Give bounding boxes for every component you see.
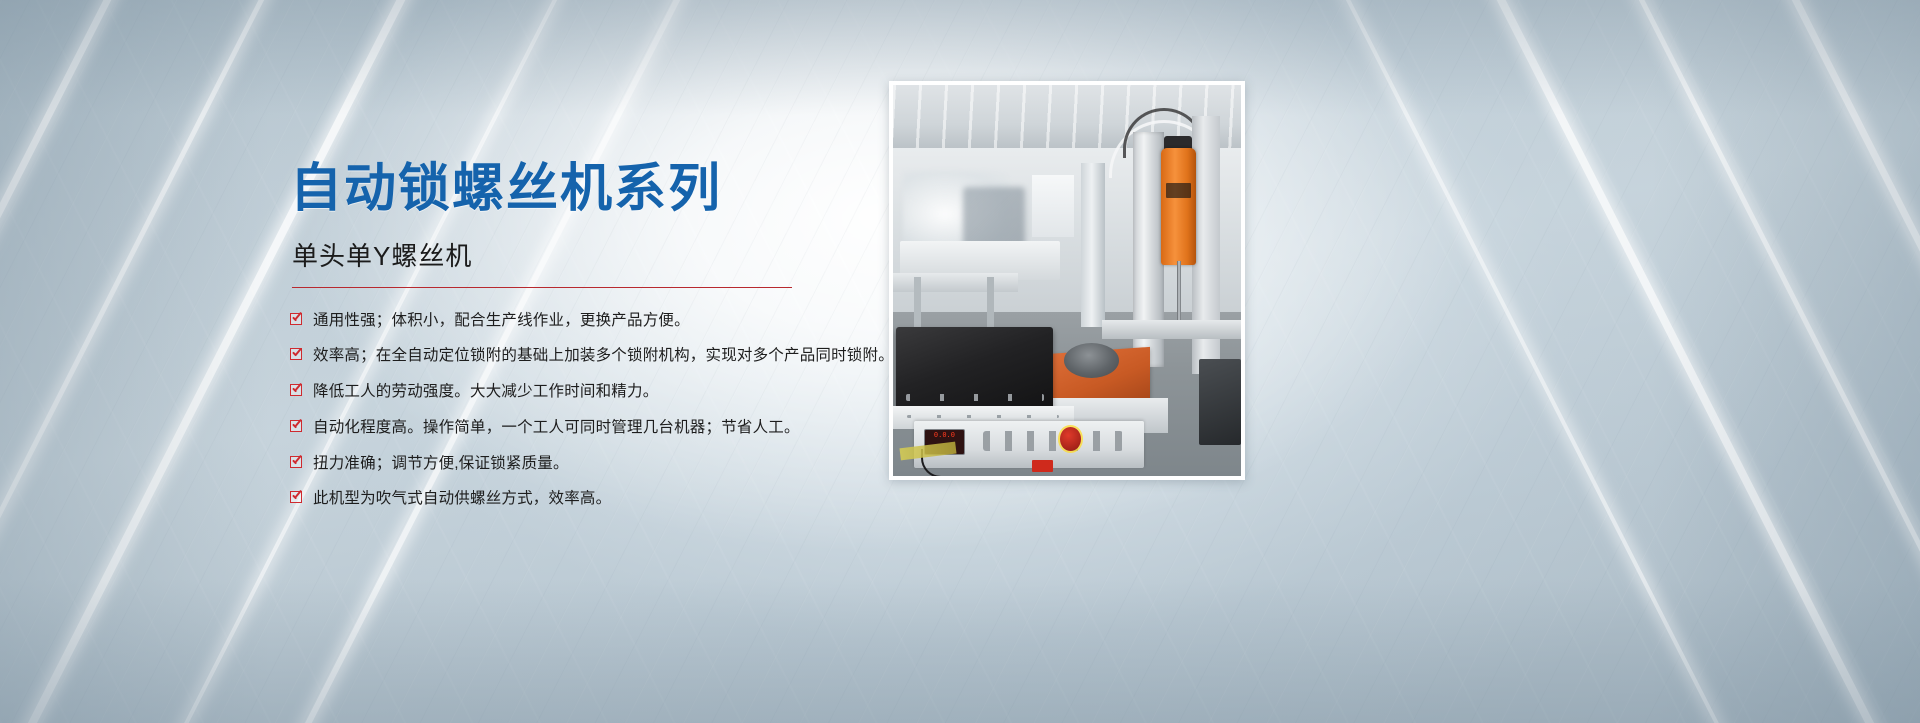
feature-text: 扭力准确；调节方便,保证锁紧质量。 (313, 453, 569, 475)
light-streak (1187, 0, 1920, 723)
photo-electric-screwdriver (1161, 148, 1196, 265)
check-box-icon (290, 491, 302, 503)
feature-text: 通用性强；体积小，配合生产线作业，更换产品方便。 (313, 310, 690, 332)
feature-list: 通用性强；体积小，配合生产线作业，更换产品方便。 效率高；在全自动定位锁附的基础… (290, 310, 970, 510)
check-box-icon (290, 456, 302, 468)
light-streak (0, 0, 269, 723)
photo-power-switch (1032, 460, 1053, 472)
light-streak (1633, 0, 1920, 723)
product-photo: 0.0.0 (893, 85, 1241, 476)
list-item: 降低工人的劳动强度。大大减少工作时间和精力。 (290, 381, 970, 403)
feature-text: 此机型为吹气式自动供螺丝方式，效率高。 (313, 488, 611, 510)
light-streak (1480, 0, 1920, 723)
photo-column (1081, 163, 1105, 327)
photo-workbench-secondary (893, 273, 1018, 293)
page-title: 自动锁螺丝机系列 (290, 160, 970, 220)
light-streak (0, 0, 129, 723)
light-streak (1791, 0, 1920, 723)
check-box-icon (290, 384, 302, 396)
list-item: 自动化程度高。操作简单，一个工人可同时管理几台机器；节省人工。 (290, 417, 970, 439)
light-streak (1339, 0, 1920, 723)
photo-bench-leg (987, 277, 994, 328)
feature-text: 效率高；在全自动定位锁附的基础上加装多个锁附机构，实现对多个产品同时锁附。 (313, 345, 894, 367)
feature-text: 降低工人的劳动强度。大大减少工作时间和精力。 (313, 381, 658, 403)
check-box-icon (290, 313, 302, 325)
list-item: 此机型为吹气式自动供螺丝方式，效率高。 (290, 488, 970, 510)
photo-doorway (1032, 175, 1074, 238)
photo-screwdriver-label (1166, 183, 1190, 199)
check-box-icon (290, 348, 302, 360)
photo-side-cabinet (1199, 359, 1241, 445)
list-item: 通用性强；体积小，配合生产线作业，更换产品方便。 (290, 310, 970, 332)
feature-text: 自动化程度高。操作简单，一个工人可同时管理几台机器；节省人工。 (313, 417, 800, 439)
page-subtitle: 单头单Y螺丝机 (292, 236, 970, 273)
banner-content: 自动锁螺丝机系列 单头单Y螺丝机 通用性强；体积小，配合生产线作业，更换产品方便… (290, 160, 970, 524)
product-banner: 自动锁螺丝机系列 单头单Y螺丝机 通用性强；体积小，配合生产线作业，更换产品方便… (0, 0, 1920, 723)
photo-base-rail (1102, 320, 1241, 340)
product-photo-frame: 0.0.0 (889, 81, 1245, 480)
photo-emergency-stop-button (1060, 427, 1081, 450)
photo-control-knobs (983, 431, 1122, 451)
list-item: 效率高；在全自动定位锁附的基础上加装多个锁附机构，实现对多个产品同时锁附。 (290, 345, 970, 367)
title-divider (292, 287, 792, 288)
photo-bench-leg (914, 277, 921, 332)
photo-screw-feeder (896, 327, 1053, 413)
list-item: 扭力准确；调节方便,保证锁紧质量。 (290, 453, 970, 475)
photo-workpiece-disc (1064, 343, 1120, 378)
check-box-icon (290, 420, 302, 432)
